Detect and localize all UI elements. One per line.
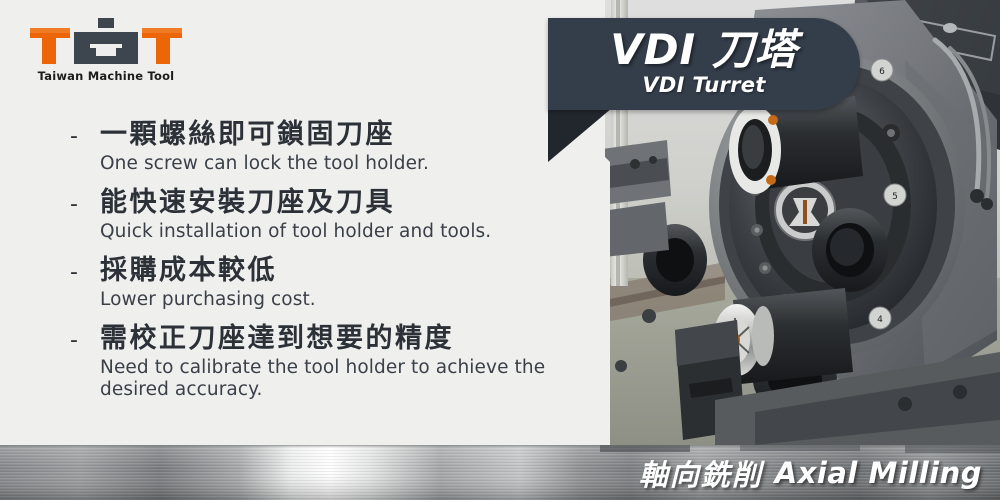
feature-title-en: Quick installation of tool holder and to… — [100, 221, 590, 243]
footer-caption: 軸向銑削 Axial Milling — [639, 445, 982, 500]
feature-title-en: One screw can lock the tool holder. — [100, 153, 590, 175]
feature-title-zh: 能快速安裝刀座及刀具 — [100, 186, 590, 220]
tmt-logo-icon — [26, 18, 186, 66]
svg-text:5: 5 — [892, 192, 898, 202]
footer-caption-zh: 軸向銑削 — [639, 452, 763, 494]
bullet-dash-icon: - — [70, 122, 84, 152]
feature-title-en: Need to calibrate the tool holder to ach… — [100, 357, 590, 401]
banner-title-zh: VDI 刀塔 — [548, 18, 860, 73]
feature-title-zh: 採購成本較低 — [100, 254, 590, 288]
brand-logo: Taiwan Machine Tool — [26, 18, 186, 86]
feature-item: - 一顆螺絲即可鎖固刀座 One screw can lock the tool… — [70, 118, 590, 175]
feature-list: - 一顆螺絲即可鎖固刀座 One screw can lock the tool… — [70, 118, 590, 412]
bullet-dash-icon: - — [70, 326, 84, 356]
bullet-dash-icon: - — [70, 190, 84, 220]
feature-title-zh: 需校正刀座達到想要的精度 — [100, 322, 590, 356]
footer-caption-en: Axial Milling — [775, 456, 982, 490]
banner-title-en: VDI Turret — [548, 73, 860, 98]
brand-name: Taiwan Machine Tool — [26, 66, 186, 83]
bullet-dash-icon: - — [70, 258, 84, 288]
feature-item: - 採購成本較低 Lower purchasing cost. — [70, 254, 590, 311]
feature-item: - 能快速安裝刀座及刀具 Quick installation of tool … — [70, 186, 590, 243]
svg-text:6: 6 — [879, 67, 885, 77]
slide-root: 6 5 4 — [0, 0, 1000, 500]
feature-item: - 需校正刀座達到想要的精度 Need to calibrate the too… — [70, 322, 590, 401]
feature-title-zh: 一顆螺絲即可鎖固刀座 — [100, 118, 590, 152]
feature-title-en: Lower purchasing cost. — [100, 289, 590, 311]
footer-bar: 軸向銑削 Axial Milling — [0, 445, 1000, 500]
svg-text:4: 4 — [877, 315, 883, 325]
title-banner: VDI 刀塔 VDI Turret — [548, 18, 860, 110]
